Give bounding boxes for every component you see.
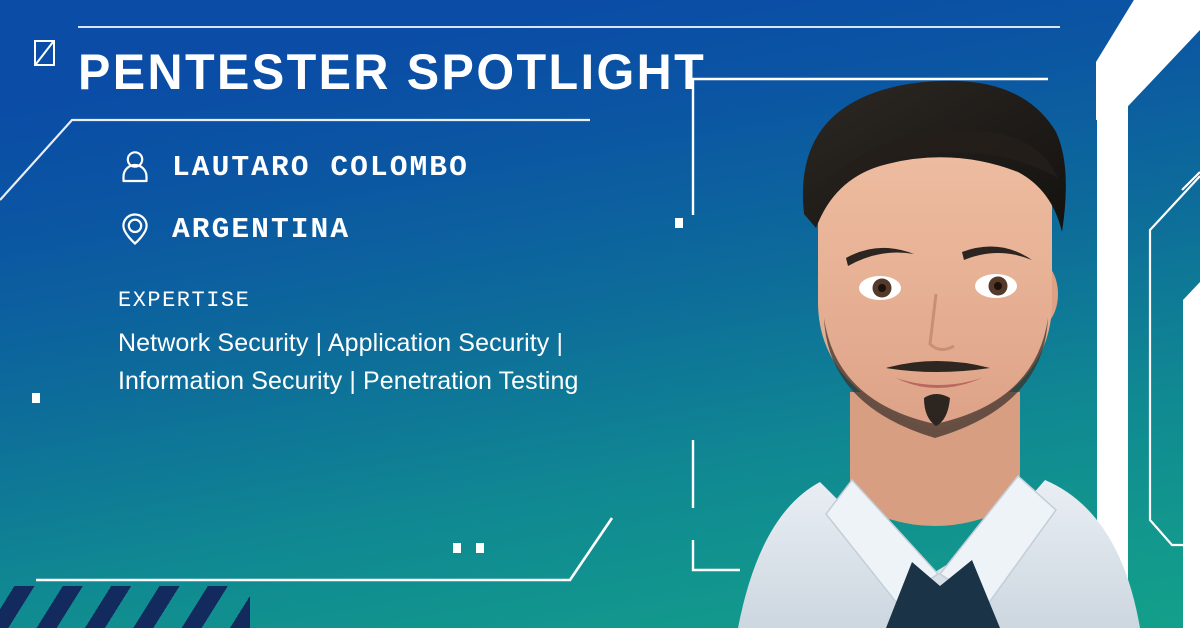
portrait-frame-bottom — [693, 540, 740, 570]
portrait-frame — [693, 79, 1048, 215]
expertise-label: EXPERTISE — [118, 288, 250, 313]
dot-bottom-b — [476, 543, 484, 553]
person-icon — [120, 150, 150, 184]
diagonal-stripes-decoration — [0, 586, 250, 628]
page-title: PENTESTER SPOTLIGHT — [78, 47, 706, 97]
person-name: LAUTARO COLOMBO — [172, 151, 469, 184]
expertise-list: Network Security | Application Security … — [118, 324, 678, 400]
bottom-rule-bend — [36, 518, 612, 580]
person-name-row: LAUTARO COLOMBO — [120, 150, 463, 184]
dot-bottom-a — [453, 543, 461, 553]
pentester-spotlight-banner: PENTESTER SPOTLIGHT LAUTARO COLOMBO ARGE… — [0, 0, 1200, 628]
crossed-square-icon — [35, 41, 54, 65]
person-location-row: ARGENTINA — [120, 212, 347, 246]
person-location: ARGENTINA — [172, 213, 350, 246]
dot-mid-right — [675, 218, 683, 228]
map-pin-icon — [120, 212, 150, 246]
dot-left — [32, 393, 40, 403]
